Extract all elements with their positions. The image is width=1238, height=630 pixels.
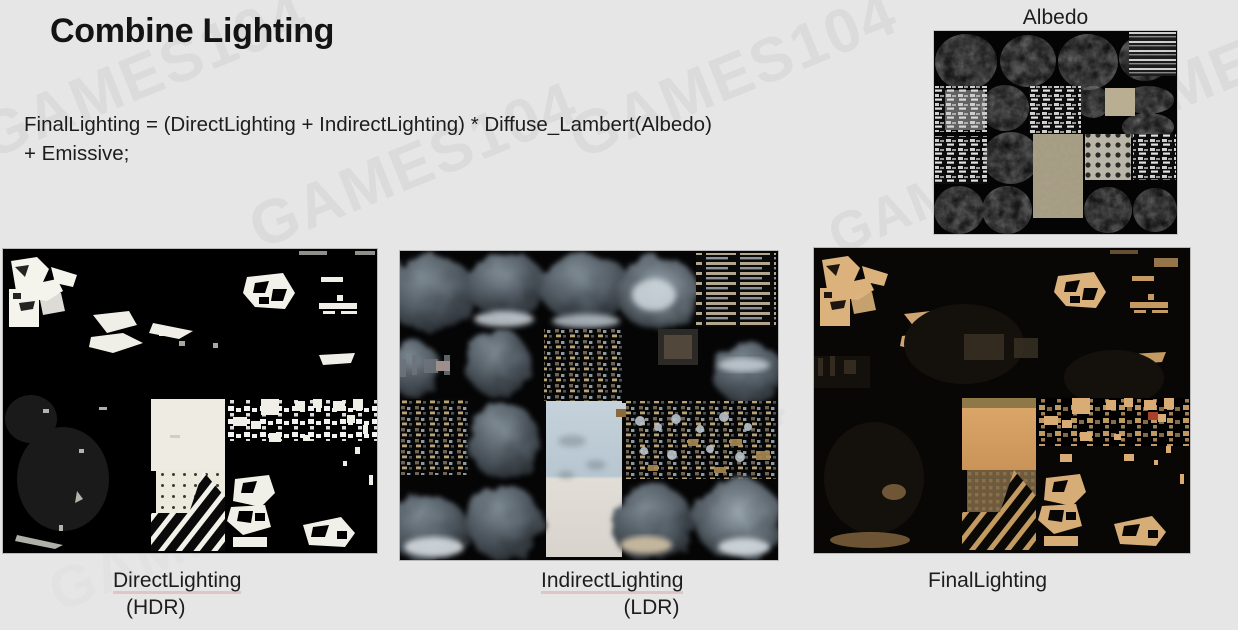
render-target-icon bbox=[400, 251, 778, 560]
albedo-texture-atlas-image bbox=[933, 30, 1178, 235]
final-lighting-caption-line1: FinalLighting bbox=[928, 569, 1047, 592]
page-title: Combine Lighting bbox=[50, 12, 334, 51]
indirect-lighting-caption-line1: IndirectLighting bbox=[541, 567, 683, 594]
indirect-lighting-caption-line2: (LDR) bbox=[541, 594, 683, 621]
texture-atlas-icon bbox=[933, 30, 1178, 235]
render-target-icon bbox=[3, 249, 377, 553]
indirect-lighting-caption: IndirectLighting (LDR) bbox=[541, 567, 683, 621]
direct-lighting-caption-line1: DirectLighting bbox=[113, 567, 241, 594]
albedo-label: Albedo bbox=[933, 6, 1178, 30]
direct-lighting-caption-line2: (HDR) bbox=[126, 594, 241, 621]
final-lighting-caption: FinalLighting bbox=[928, 567, 1047, 594]
lighting-formula-text: FinalLighting = (DirectLighting + Indire… bbox=[24, 110, 712, 168]
direct-lighting-image bbox=[3, 249, 377, 553]
direct-lighting-caption: DirectLighting (HDR) bbox=[113, 567, 241, 621]
render-target-icon bbox=[814, 248, 1190, 553]
indirect-lighting-image bbox=[400, 251, 778, 560]
final-lighting-image bbox=[814, 248, 1190, 553]
